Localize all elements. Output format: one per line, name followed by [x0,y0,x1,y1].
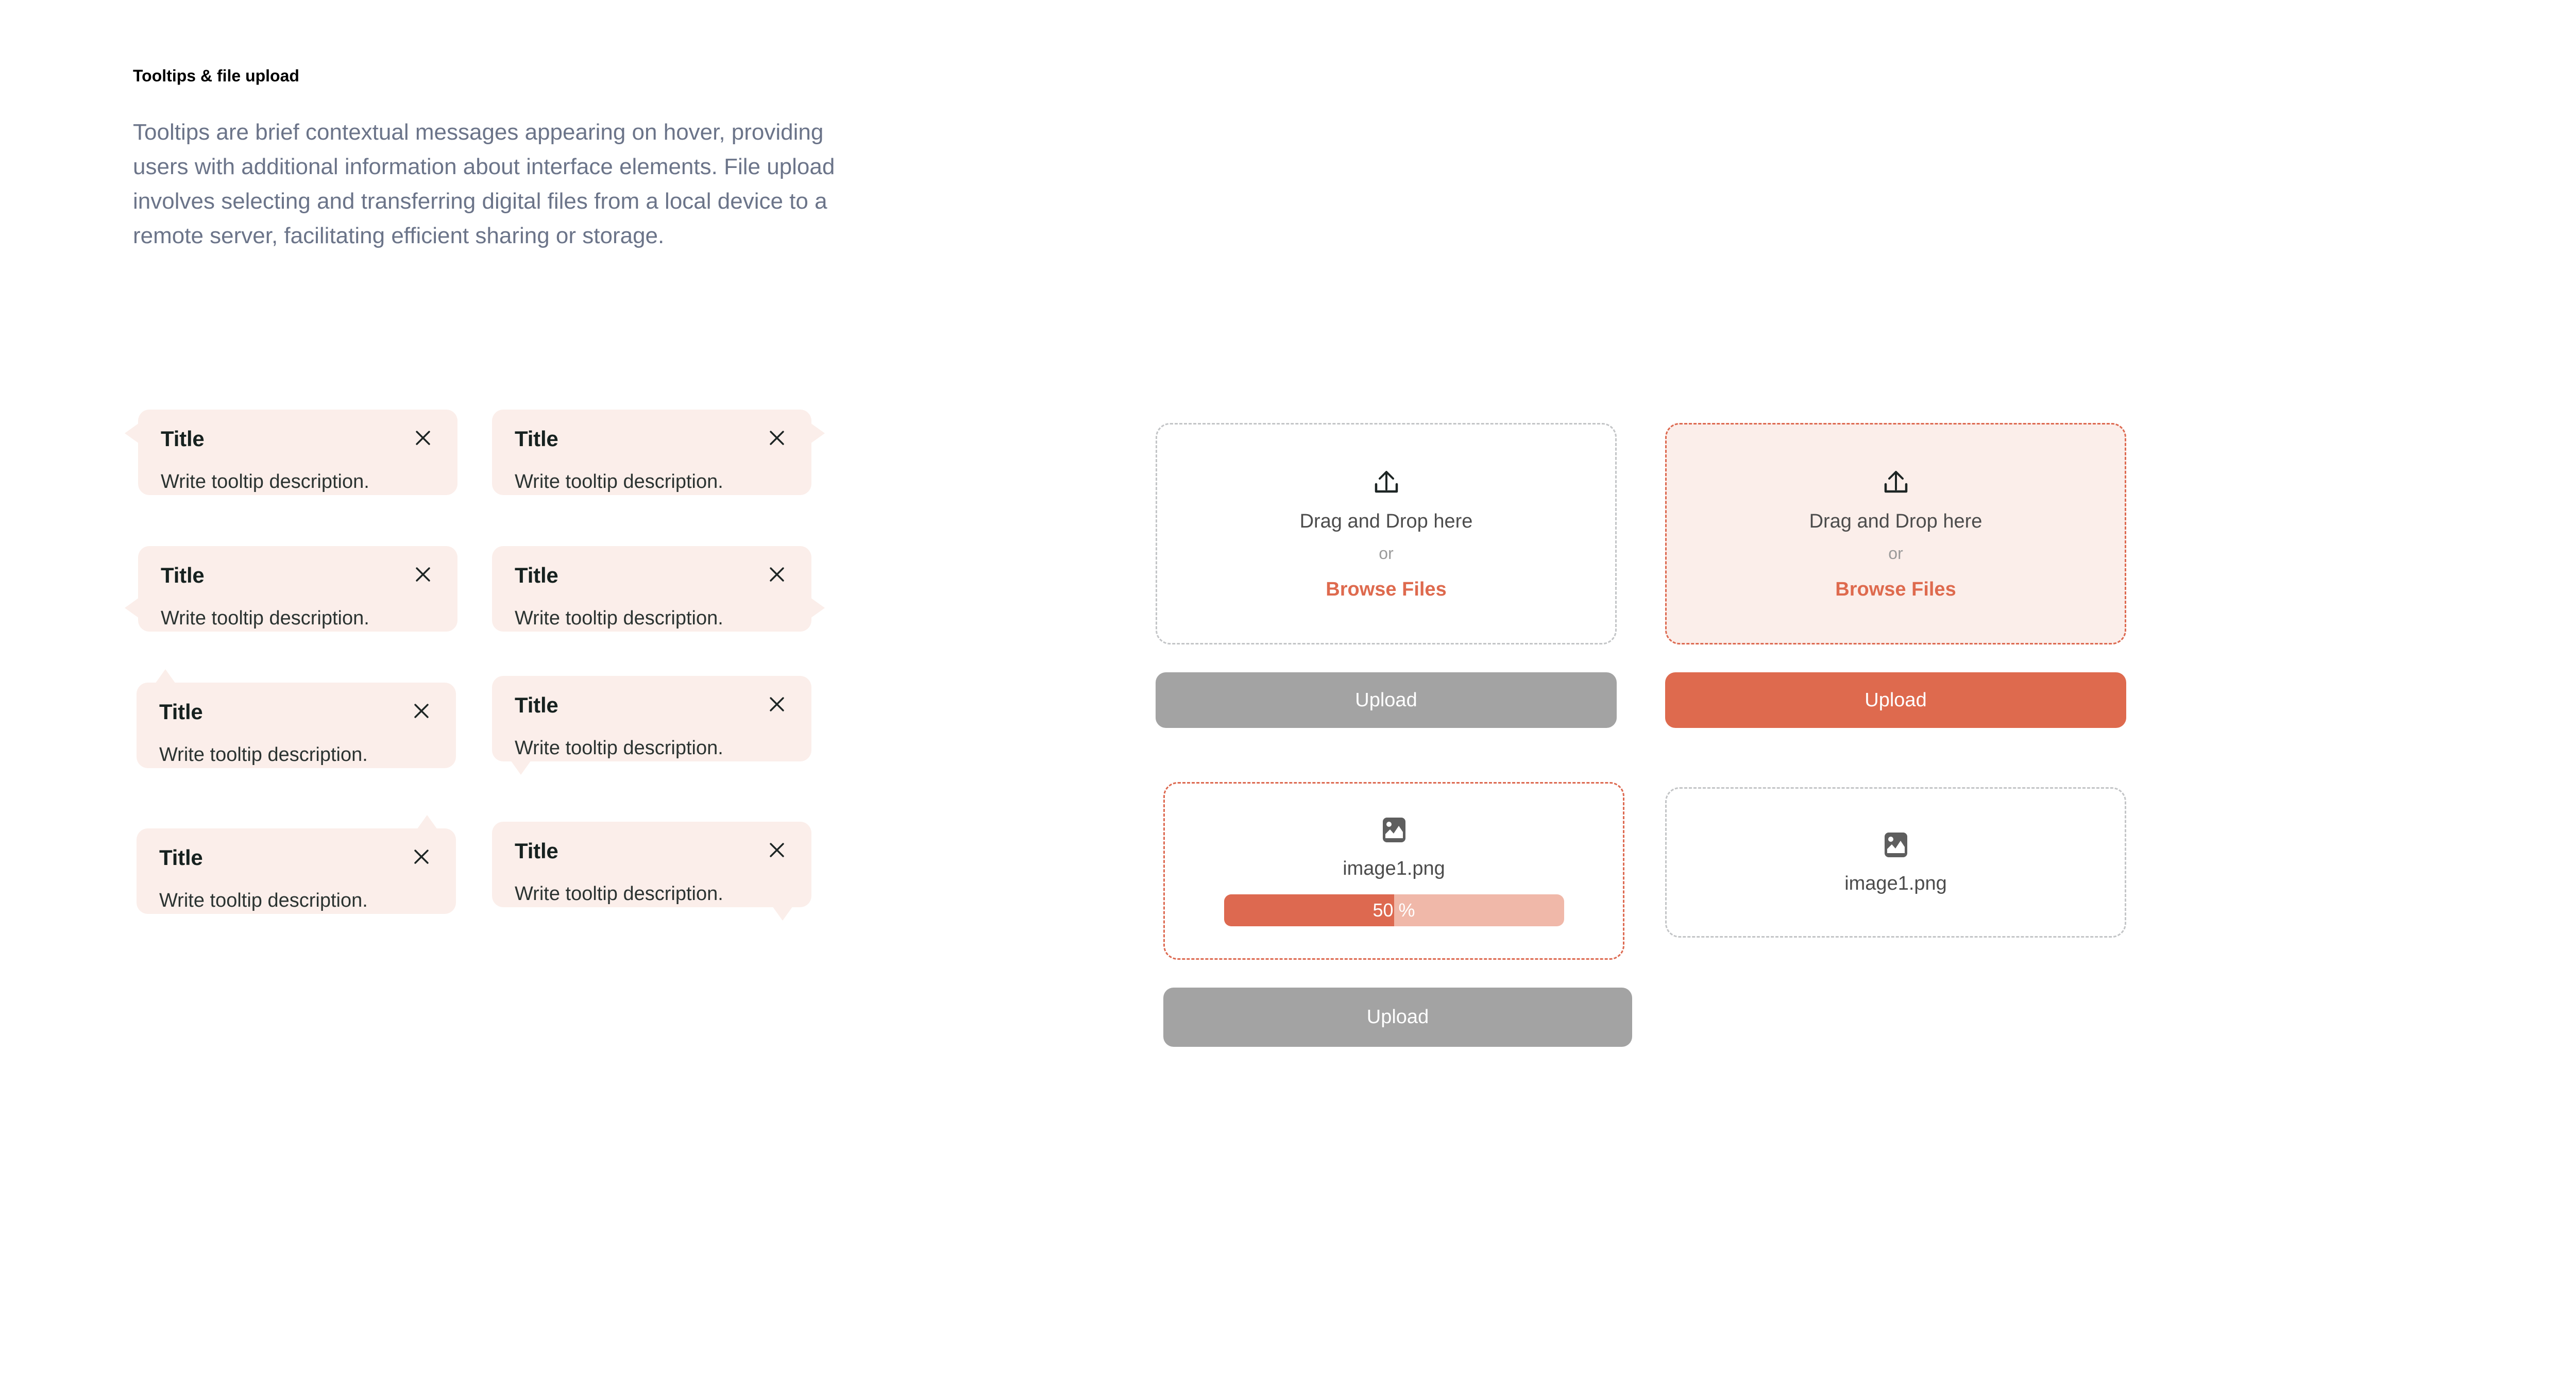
upload-icon [1881,467,1911,497]
dropzone-main-label: Drag and Drop here [1300,511,1473,533]
file-name: image1.png [1343,858,1445,880]
upload-button-label: Upload [1865,689,1926,711]
dropzone-active[interactable]: Drag and Drop here or Browse Files [1665,423,2126,644]
dropzone-main-label: Drag and Drop here [1809,511,1982,533]
upload-button-label: Upload [1367,1006,1429,1028]
file-upload-section: Drag and Drop here or Browse Files Drag … [0,0,2576,1375]
browse-files-link[interactable]: Browse Files [1326,579,1446,601]
upload-button-disabled[interactable]: Upload [1156,672,1617,728]
dropzone-or-label: or [1888,544,1903,563]
file-card-uploading[interactable]: image1.png 50 % [1163,782,1624,960]
upload-progress-bar: 50 % [1224,894,1564,926]
upload-button-label: Upload [1355,689,1417,711]
upload-progress-fill [1224,894,1394,926]
upload-icon [1371,467,1401,497]
browse-files-link[interactable]: Browse Files [1835,579,1956,601]
image-file-icon [1380,816,1409,844]
upload-button-primary[interactable]: Upload [1665,672,2126,728]
dropzone-default[interactable]: Drag and Drop here or Browse Files [1156,423,1617,644]
file-name: image1.png [1844,873,1947,895]
image-file-icon [1882,830,1910,859]
upload-button-disabled-bottom[interactable]: Upload [1163,988,1632,1047]
dropzone-or-label: or [1379,544,1393,563]
file-card-selected[interactable]: image1.png [1665,787,2126,938]
upload-progress-label: 50 % [1372,899,1415,921]
